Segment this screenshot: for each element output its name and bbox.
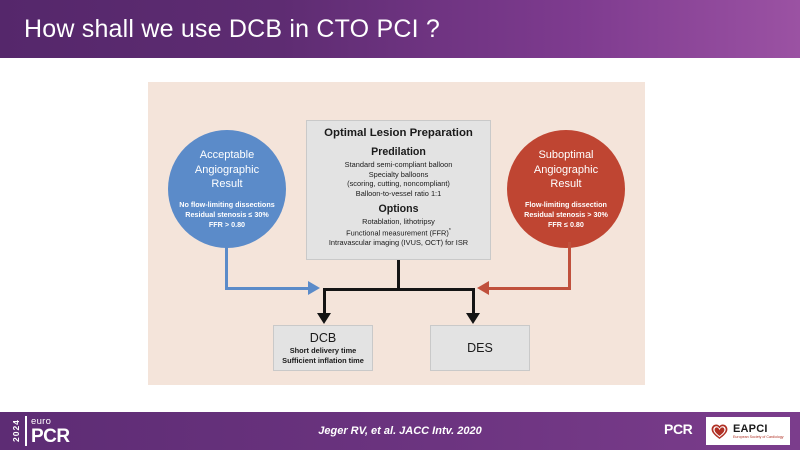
suboptimal-result-criteria: Flow-limiting dissection Residual stenos… (524, 200, 608, 230)
blue-arrowhead-icon (308, 281, 320, 295)
suboptimal-result-circle: Suboptimal Angiographic Result Flow-limi… (507, 130, 625, 248)
dcb-sub-line-1: Short delivery time (290, 346, 357, 356)
predilation-line-2: Specialty balloons (307, 170, 490, 180)
red-connector-stem (568, 242, 571, 290)
eapci-text-block: EAPCI European Society of Cardiology (733, 423, 784, 440)
acceptable-criteria-line-3: FFR > 0.80 (179, 220, 274, 230)
options-line-1: Rotablation, lithotripsy (307, 217, 490, 227)
suboptimal-title-line-2: Angiographic (534, 163, 598, 178)
outcome-box-dcb: DCB Short delivery time Sufficient infla… (273, 325, 373, 371)
options-heading: Options (307, 202, 490, 217)
pcr-logo-mark: PCR (664, 421, 692, 437)
des-title: DES (467, 340, 493, 356)
heart-icon (710, 422, 729, 441)
red-connector-bar (488, 287, 571, 290)
optimal-lesion-preparation-box: Optimal Lesion Preparation Predilation S… (306, 120, 491, 260)
acceptable-result-title: Acceptable Angiographic Result (195, 148, 259, 192)
slide-root: How shall we use DCB in CTO PCI ? Accept… (0, 0, 800, 450)
diagram-panel: Acceptable Angiographic Result No flow-l… (148, 82, 645, 385)
options-line-2-text: Functional measurement (FFR) (346, 228, 449, 237)
options-line-2: Functional measurement (FFR)* (307, 227, 490, 238)
logo-euro-text: euro (31, 417, 70, 427)
logo-pcr-text: PCR (31, 427, 70, 446)
slide-header: How shall we use DCB in CTO PCI ? (0, 0, 800, 58)
blue-connector-bar (225, 287, 310, 290)
suboptimal-title-line-3: Result (534, 177, 598, 192)
suboptimal-criteria-line-3: FFR ≤ 0.80 (524, 220, 608, 230)
eapci-name: EAPCI (733, 423, 784, 435)
suboptimal-criteria-line-1: Flow-limiting dissection (524, 200, 608, 210)
europcr-logo: 2024 euro PCR (10, 416, 70, 446)
acceptable-result-circle: Acceptable Angiographic Result No flow-l… (168, 130, 286, 248)
acceptable-criteria-line-1: No flow-limiting dissections (179, 200, 274, 210)
acceptable-criteria-line-2: Residual stenosis ≤ 30% (179, 210, 274, 220)
black-connector-left-drop (323, 288, 326, 315)
eapci-subtitle: European Society of Cardiology (733, 435, 784, 440)
eapci-logo-badge: EAPCI European Society of Cardiology (706, 417, 790, 445)
acceptable-title-line-1: Acceptable (195, 148, 259, 163)
options-line-3: Intravascular imaging (IVUS, OCT) for IS… (307, 238, 490, 248)
black-connector-stem (397, 260, 400, 290)
dcb-sub-line-2: Sufficient inflation time (282, 356, 364, 366)
black-connector-bar (323, 288, 475, 291)
suboptimal-result-title: Suboptimal Angiographic Result (534, 148, 598, 192)
options-footnote-marker: * (449, 228, 451, 234)
acceptable-title-line-3: Result (195, 177, 259, 192)
suboptimal-title-line-1: Suboptimal (534, 148, 598, 163)
black-connector-right-drop (472, 288, 475, 315)
logo-wordmark: euro PCR (31, 416, 70, 446)
dcb-arrowhead-icon (317, 313, 331, 324)
predilation-line-4: Balloon-to-vessel ratio 1:1 (307, 189, 490, 199)
dcb-title: DCB (310, 330, 336, 346)
central-box-heading: Optimal Lesion Preparation (307, 126, 490, 141)
logo-year: 2024 (10, 416, 21, 446)
red-arrowhead-icon (477, 281, 489, 295)
acceptable-title-line-2: Angiographic (195, 163, 259, 178)
des-arrowhead-icon (466, 313, 480, 324)
outcome-box-des: DES (430, 325, 530, 371)
suboptimal-criteria-line-2: Residual stenosis > 30% (524, 210, 608, 220)
acceptable-result-criteria: No flow-limiting dissections Residual st… (179, 200, 274, 230)
predilation-line-1: Standard semi-compliant balloon (307, 160, 490, 170)
predilation-line-3: (scoring, cutting, noncompliant) (307, 179, 490, 189)
logo-divider (25, 416, 27, 446)
page-title: How shall we use DCB in CTO PCI ? (0, 15, 440, 44)
blue-connector-stem (225, 242, 228, 290)
predilation-heading: Predilation (307, 145, 490, 160)
